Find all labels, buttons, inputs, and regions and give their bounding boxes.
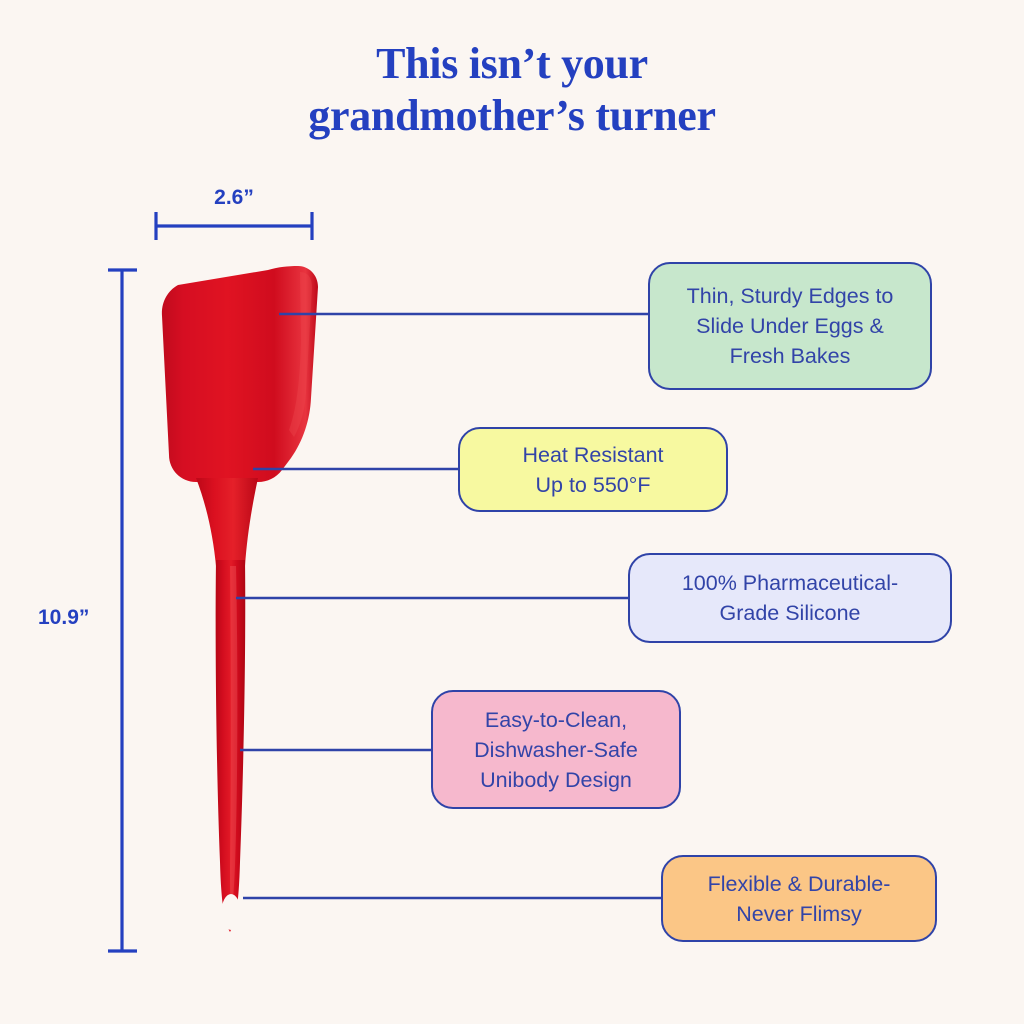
callout-line: 100% Pharmaceutical- bbox=[682, 568, 898, 598]
dimension-line-width bbox=[156, 212, 312, 240]
turner-head bbox=[162, 266, 318, 482]
callout-line: Dishwasher-Safe bbox=[474, 735, 638, 765]
callout-thin-sturdy-edges: Thin, Sturdy Edges to Slide Under Eggs &… bbox=[648, 262, 932, 390]
callout-easy-to-clean: Easy-to-Clean, Dishwasher-Safe Unibody D… bbox=[431, 690, 681, 809]
callout-line: Unibody Design bbox=[474, 765, 638, 795]
dimension-line-height bbox=[108, 270, 137, 951]
dimension-height-label: 10.9” bbox=[38, 606, 89, 630]
callout-line: Flexible & Durable- bbox=[708, 869, 891, 899]
turner-neck bbox=[196, 478, 258, 566]
callout-heat-resistant: Heat Resistant Up to 550°F bbox=[458, 427, 728, 512]
dimension-width-label: 2.6” bbox=[155, 186, 313, 210]
callout-line: Grade Silicone bbox=[682, 598, 898, 628]
hanging-hole bbox=[222, 894, 241, 930]
product-infographic: This isn’t your grandmother’s turner bbox=[0, 0, 1024, 1024]
callout-line: Fresh Bakes bbox=[687, 341, 894, 371]
callout-line: Up to 550°F bbox=[522, 470, 663, 500]
callout-line: Slide Under Eggs & bbox=[687, 311, 894, 341]
callout-line: Never Flimsy bbox=[708, 899, 891, 929]
callout-line: Heat Resistant bbox=[522, 440, 663, 470]
callout-flexible-durable: Flexible & Durable- Never Flimsy bbox=[661, 855, 937, 942]
callout-line: Easy-to-Clean, bbox=[474, 705, 638, 735]
callout-line: Thin, Sturdy Edges to bbox=[687, 281, 894, 311]
callout-pharmaceutical-grade-silicone: 100% Pharmaceutical- Grade Silicone bbox=[628, 553, 952, 643]
